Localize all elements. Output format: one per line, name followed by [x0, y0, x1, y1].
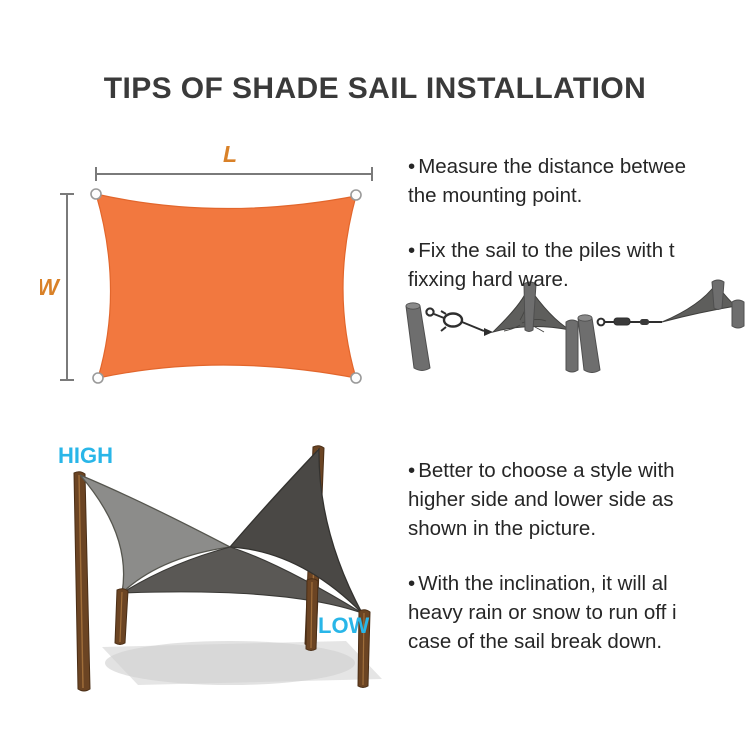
tip-line-text: With the inclination, it will al [418, 572, 668, 595]
tips-text-top: •Measure the distance betwee the mountin… [408, 152, 686, 294]
length-label: L [223, 141, 237, 167]
bullet-icon: • [408, 569, 415, 598]
rectangular-sail-svg: L W [40, 140, 400, 400]
rectangular-sail-diagram: L W [40, 140, 400, 400]
tip-line-text: higher side and lower side as [408, 485, 677, 514]
tip-paragraph: •With the inclination, it will al heavy … [408, 569, 677, 656]
tip-line: •Fix the sail to the piles with t [408, 236, 686, 265]
inclined-sails-svg: HIGH LOW [30, 435, 410, 700]
width-label: W [40, 274, 61, 300]
tip-line: •Better to choose a style with [408, 456, 677, 485]
tips-text-bottom: •Better to choose a style with higher si… [408, 456, 677, 656]
tip-line-text: Measure the distance betwee [418, 155, 686, 178]
tip-paragraph: •Fix the sail to the piles with t fixxin… [408, 236, 686, 294]
hardware-view-left [406, 282, 578, 372]
inclined-sails-diagram: HIGH LOW [30, 435, 410, 700]
tip-line-text: fixxing hard ware. [408, 265, 686, 294]
bullet-icon: • [408, 152, 415, 181]
tip-line-text: Better to choose a style with [418, 459, 674, 482]
tip-line-text: heavy rain or snow to run off i [408, 598, 677, 627]
length-dimension-line [96, 167, 372, 181]
infographic-page: TIPS OF SHADE SAIL INSTALLATION L W [0, 0, 750, 750]
low-label: LOW [318, 613, 370, 638]
bullet-icon: • [408, 456, 415, 485]
tip-line: •With the inclination, it will al [408, 569, 677, 598]
ground-shadow-2 [102, 641, 382, 685]
tip-line-text: Fix the sail to the piles with t [418, 239, 674, 262]
page-title: TIPS OF SHADE SAIL INSTALLATION [0, 72, 750, 106]
post-high-left [74, 472, 90, 691]
tip-paragraph: •Better to choose a style with higher si… [408, 456, 677, 543]
high-label: HIGH [58, 443, 113, 468]
bullet-icon: • [408, 236, 415, 265]
post-mid-right [306, 579, 318, 651]
tip-line-text: the mounting point. [408, 181, 686, 210]
tip-paragraph: •Measure the distance betwee the mountin… [408, 152, 686, 210]
orange-sail-body [96, 194, 356, 378]
tip-line-text: case of the sail break down. [408, 627, 677, 656]
tip-line-text: shown in the picture. [408, 514, 677, 543]
tip-line: •Measure the distance betwee [408, 152, 686, 181]
width-dimension-line [60, 194, 74, 380]
post-front-left [115, 589, 128, 645]
